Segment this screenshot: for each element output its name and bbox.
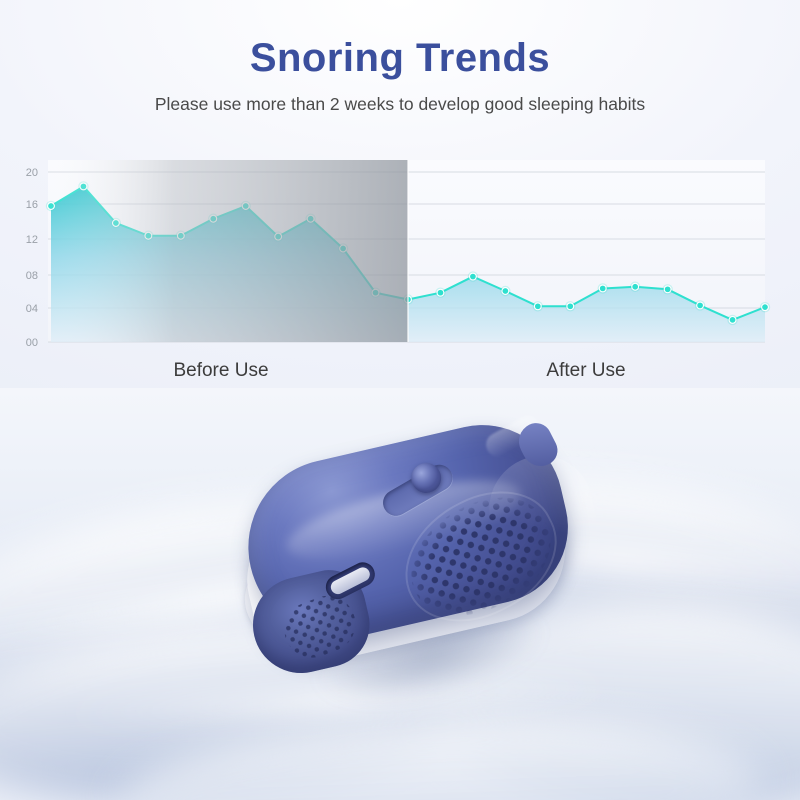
bedsheet-fold: [0, 599, 507, 800]
bedsheet-fold: [118, 707, 763, 800]
body-rim-light: [482, 412, 544, 461]
power-slider-slot: [378, 460, 457, 521]
fold-highlight: [400, 529, 800, 587]
air-vent-grid-icon: [391, 477, 570, 637]
fold-highlight: [0, 548, 479, 646]
segment-label-layer: Before Use After Use: [0, 150, 800, 390]
power-button-icon[interactable]: [408, 460, 444, 496]
fold-highlight: [60, 673, 620, 724]
device-white-base: [234, 458, 580, 676]
device-right-tip: [512, 418, 562, 473]
header: Snoring Trends Please use more than 2 we…: [0, 0, 800, 150]
nasal-prong-icon: [250, 488, 366, 603]
body-highlight: [281, 465, 528, 576]
product-photo: [0, 388, 800, 800]
body-edge-light: [478, 446, 606, 586]
product-infographic-page: Snoring Trends Please use more than 2 we…: [0, 0, 800, 800]
anti-snoring-device: [193, 388, 628, 770]
device-body: [231, 409, 583, 656]
nasal-prong-icon: [230, 542, 343, 654]
bedsheet-fold: [425, 591, 800, 800]
device-shadow: [257, 565, 603, 746]
snoring-trends-chart: 20 16 12 08 04 00 Before Use After Use: [0, 150, 800, 390]
page-subtitle: Please use more than 2 weeks to develop …: [0, 96, 800, 114]
secondary-vent-icon: [276, 588, 363, 666]
segment-label-before: Before Use: [173, 360, 268, 381]
device-left-lobe: [243, 563, 378, 683]
page-title: Snoring Trends: [0, 38, 800, 78]
bedsheet-fold: [0, 461, 513, 765]
bedsheet-fold: [322, 454, 800, 697]
usb-c-port-icon: [322, 558, 379, 603]
segment-label-after: After Use: [546, 360, 625, 381]
